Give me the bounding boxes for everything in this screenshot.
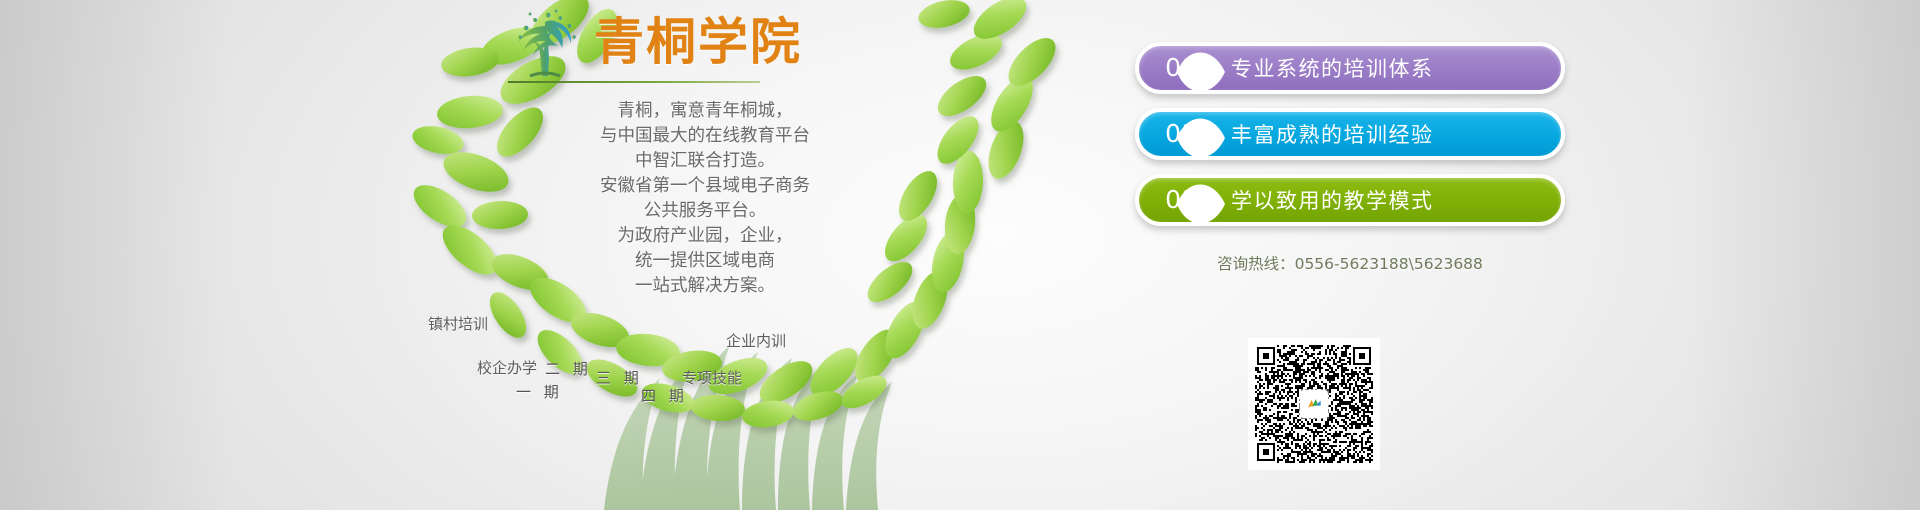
- logo-row: 青桐学院: [500, 6, 920, 78]
- label-term-3: 三 期: [596, 367, 643, 388]
- feature-pill-03[interactable]: 03 学以致用的教学模式: [1135, 174, 1565, 226]
- intro-line: 统一提供区域电商: [500, 249, 910, 274]
- tree-logo-icon: [502, 6, 588, 78]
- qr-code-icon[interactable]: [1248, 338, 1380, 470]
- label-school-enterprise: 校企办学: [477, 357, 537, 378]
- label-term-1: 一 期: [516, 381, 563, 402]
- label-village-training: 镇村培训: [428, 313, 488, 334]
- brand-block: 青桐学院 青桐，寓意青年桐城， 与中国最大的在线教育平台 中智汇联合打造。 安徽…: [500, 6, 920, 299]
- intro-line: 与中国最大的在线教育平台: [500, 124, 910, 149]
- feature-label-03: 学以致用的教学模式: [1231, 185, 1434, 215]
- label-term-2: 二 期: [545, 358, 592, 379]
- intro-line: 一站式解决方案。: [500, 274, 910, 299]
- label-term-4: 四 期: [641, 385, 688, 406]
- intro-line: 安徽省第一个县域电子商务: [500, 174, 910, 199]
- feature-number-01: 01: [1149, 46, 1215, 90]
- hotline-text: 咨询热线：0556-5623188\5623688: [1135, 252, 1565, 274]
- intro-line: 为政府产业园，企业，: [500, 224, 910, 249]
- leaf-wreath-decoration: [0, 0, 1920, 510]
- brand-mark-icon: [1300, 390, 1328, 418]
- intro-line: 中智汇联合打造。: [500, 149, 910, 174]
- feature-number-02: 02: [1149, 112, 1215, 156]
- feature-pill-01[interactable]: 01 专业系统的培训体系: [1135, 42, 1565, 94]
- title-underline-rule: [508, 81, 760, 83]
- feature-list: 01 专业系统的培训体系 02 丰富成熟的培训经验 03: [1135, 42, 1565, 240]
- intro-line: 青桐，寓意青年桐城，: [500, 99, 910, 124]
- promotional-banner: 青桐学院 青桐，寓意青年桐城， 与中国最大的在线教育平台 中智汇联合打造。 安徽…: [0, 0, 1920, 510]
- page-title: 青桐学院: [594, 17, 802, 67]
- feature-number-03: 03: [1149, 178, 1215, 222]
- label-enterprise-internal: 企业内训: [726, 330, 786, 351]
- label-special-skills: 专项技能: [682, 367, 742, 388]
- intro-paragraph: 青桐，寓意青年桐城， 与中国最大的在线教育平台 中智汇联合打造。 安徽省第一个县…: [500, 99, 920, 299]
- feature-pill-02[interactable]: 02 丰富成熟的培训经验: [1135, 108, 1565, 160]
- intro-line: 公共服务平台。: [500, 199, 910, 224]
- feature-label-02: 丰富成熟的培训经验: [1231, 119, 1434, 149]
- feature-label-01: 专业系统的培训体系: [1231, 53, 1434, 83]
